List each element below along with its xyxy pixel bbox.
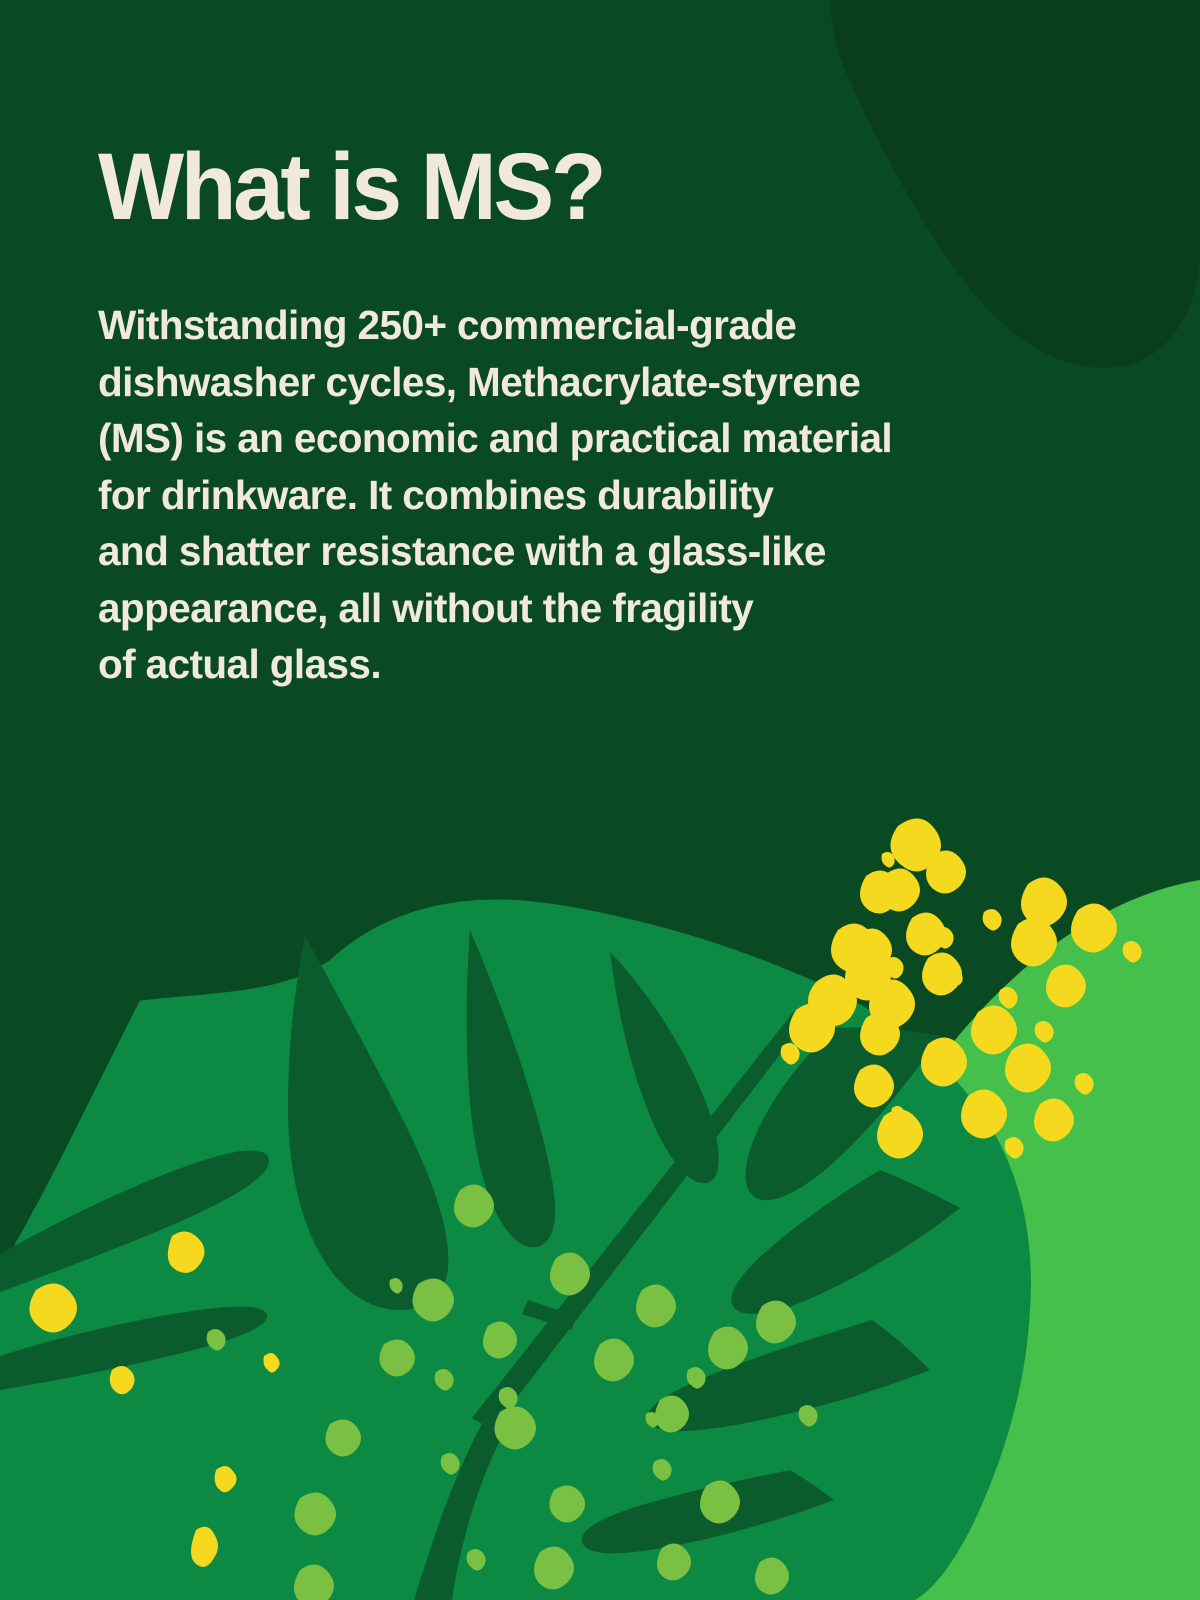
poster-canvas: What is MS? Withstanding 250+ commercial… xyxy=(0,0,1200,1600)
decorative-background-art xyxy=(0,0,1200,1600)
